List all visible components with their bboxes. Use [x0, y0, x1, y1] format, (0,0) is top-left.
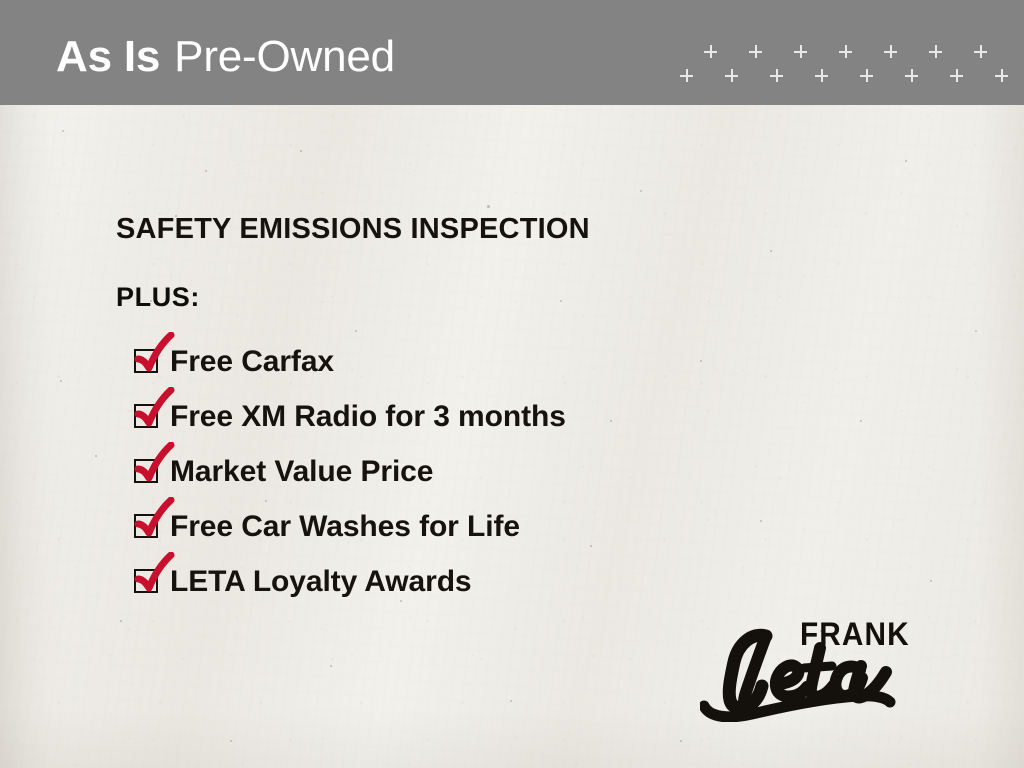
checklist: Free CarfaxFree XM Radio for 3 monthsMar…: [134, 343, 834, 618]
logo-leta-script: [700, 622, 920, 722]
slide-content: SAFETY EMISSIONS INSPECTION PLUS: Free C…: [0, 0, 1024, 768]
checklist-item[interactable]: Free XM Radio for 3 months: [134, 398, 834, 453]
checklist-item-label: Free XM Radio for 3 months: [170, 398, 566, 436]
checkbox[interactable]: [134, 514, 158, 538]
heading-plus: PLUS:: [116, 282, 200, 313]
checklist-item[interactable]: Market Value Price: [134, 453, 834, 508]
checkbox[interactable]: [134, 349, 158, 373]
checklist-item-label: Market Value Price: [170, 453, 433, 491]
checklist-item[interactable]: Free Car Washes for Life: [134, 508, 834, 563]
heading-safety-emissions-inspection: SAFETY EMISSIONS INSPECTION: [116, 213, 590, 246]
frank-leta-logo: FRANK: [700, 604, 920, 722]
slide: As IsPre-Owned SAFETY EMISSIONS INSPECTI…: [0, 0, 1024, 768]
checklist-item[interactable]: Free Carfax: [134, 343, 834, 398]
checklist-item-label: Free Carfax: [170, 343, 334, 381]
checkbox[interactable]: [134, 569, 158, 593]
checkbox[interactable]: [134, 459, 158, 483]
checkbox[interactable]: [134, 404, 158, 428]
checklist-item-label: LETA Loyalty Awards: [170, 563, 472, 601]
checklist-item-label: Free Car Washes for Life: [170, 508, 520, 546]
